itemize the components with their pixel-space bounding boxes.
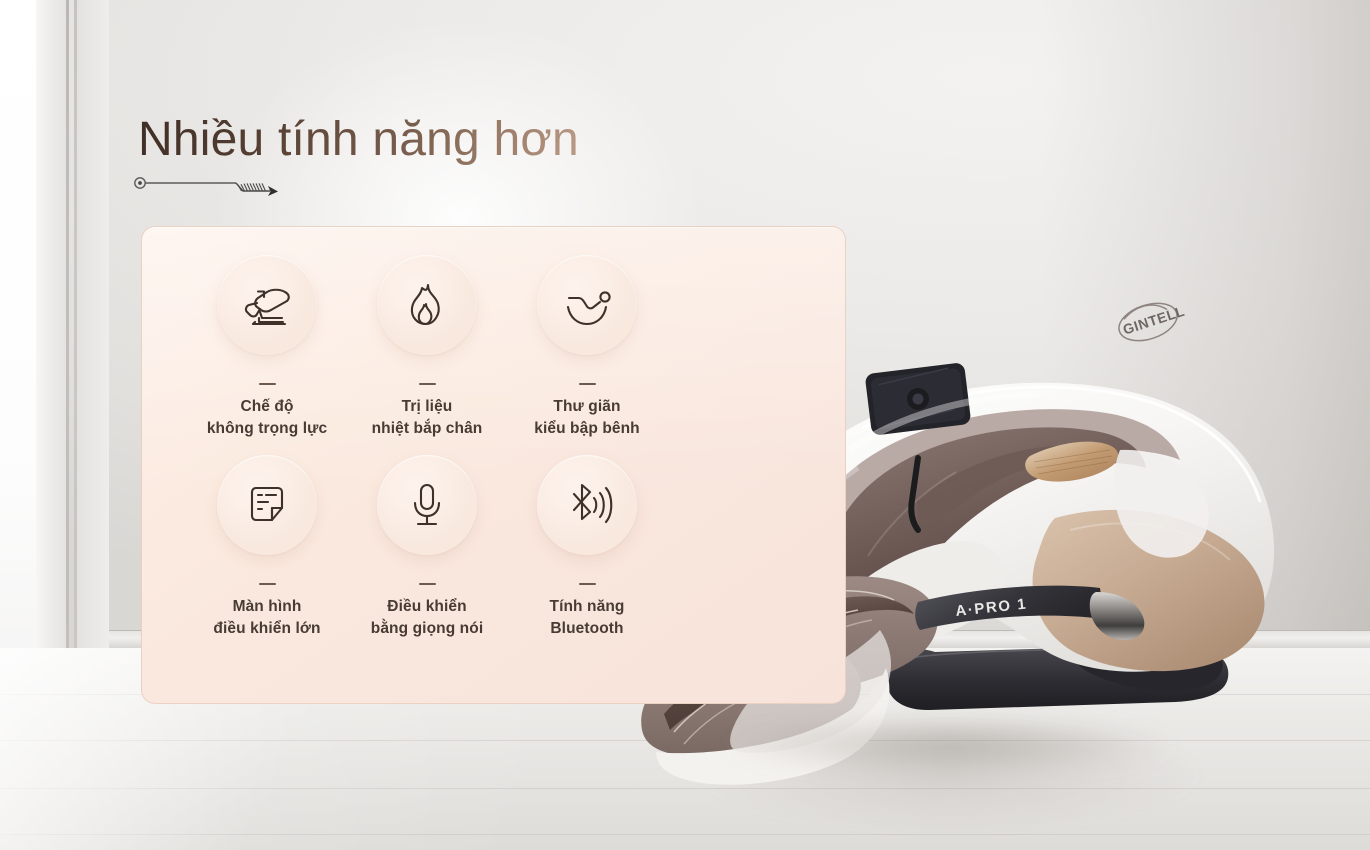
caption-divider bbox=[259, 583, 276, 585]
feature-card-zero-gravity[interactable]: Chế độ không trọng lực bbox=[188, 255, 346, 455]
brand-logo-text: GINTELL bbox=[1121, 303, 1187, 338]
feature-caption-line1: Tính năng bbox=[508, 596, 666, 618]
feature-caption-line2: Bluetooth bbox=[508, 618, 666, 640]
feature-caption-line1: Màn hình bbox=[188, 596, 346, 618]
feature-caption-line2: kiểu bập bênh bbox=[508, 418, 666, 440]
caption-divider bbox=[259, 383, 276, 385]
caption-divider bbox=[419, 383, 436, 385]
features-panel: Chế độ không trọng lực Trị liệu nhiệt bắ… bbox=[141, 226, 846, 704]
feature-caption-line2: bằng giọng nói bbox=[348, 618, 506, 640]
caption-divider bbox=[419, 583, 436, 585]
chair-floor-shadow bbox=[640, 705, 1260, 785]
caption-divider bbox=[579, 383, 596, 385]
flame-heat-icon bbox=[377, 255, 477, 355]
control-screen-icon bbox=[217, 455, 317, 555]
feature-card-bluetooth[interactable]: Tính năng Bluetooth bbox=[508, 455, 666, 655]
title-underline-arrow-icon bbox=[131, 172, 291, 198]
feature-caption: Trị liệu nhiệt bắp chân bbox=[348, 396, 506, 440]
features-grid: Chế độ không trọng lực Trị liệu nhiệt bắ… bbox=[188, 255, 708, 655]
feature-caption: Chế độ không trọng lực bbox=[188, 396, 346, 440]
microphone-icon bbox=[377, 455, 477, 555]
feature-caption: Thư giãn kiểu bập bênh bbox=[508, 396, 666, 440]
caption-divider bbox=[579, 583, 596, 585]
feature-caption-line1: Chế độ bbox=[188, 396, 346, 418]
feature-caption-line1: Trị liệu bbox=[348, 396, 506, 418]
feature-card-control-screen[interactable]: Màn hình điều khiển lớn bbox=[188, 455, 346, 655]
page-title: Nhiều tính năng hơn bbox=[138, 112, 579, 167]
feature-card-rocking[interactable]: Thư giãn kiểu bập bênh bbox=[508, 255, 666, 455]
brand-logo: GINTELL bbox=[1114, 294, 1189, 347]
tablet-controller bbox=[865, 362, 972, 436]
feature-caption-line2: nhiệt bắp chân bbox=[348, 418, 506, 440]
feature-caption: Tính năng Bluetooth bbox=[508, 596, 666, 640]
feature-caption-line2: điều khiển lớn bbox=[188, 618, 346, 640]
massage-chair-zero-gravity-icon bbox=[217, 255, 317, 355]
feature-card-heat-therapy[interactable]: Trị liệu nhiệt bắp chân bbox=[348, 255, 506, 455]
feature-caption: Điều khiển bằng giọng nói bbox=[348, 596, 506, 640]
feature-caption-line1: Điều khiển bbox=[348, 596, 506, 618]
rocking-recline-icon bbox=[537, 255, 637, 355]
slide-canvas: Nhiều tính năng hơn bbox=[0, 0, 1370, 850]
feature-card-voice-control[interactable]: Điều khiển bằng giọng nói bbox=[348, 455, 506, 655]
bluetooth-icon bbox=[537, 455, 637, 555]
feature-caption-line1: Thư giãn bbox=[508, 396, 666, 418]
feature-caption-line2: không trọng lực bbox=[188, 418, 346, 440]
feature-caption: Màn hình điều khiển lớn bbox=[188, 596, 346, 640]
